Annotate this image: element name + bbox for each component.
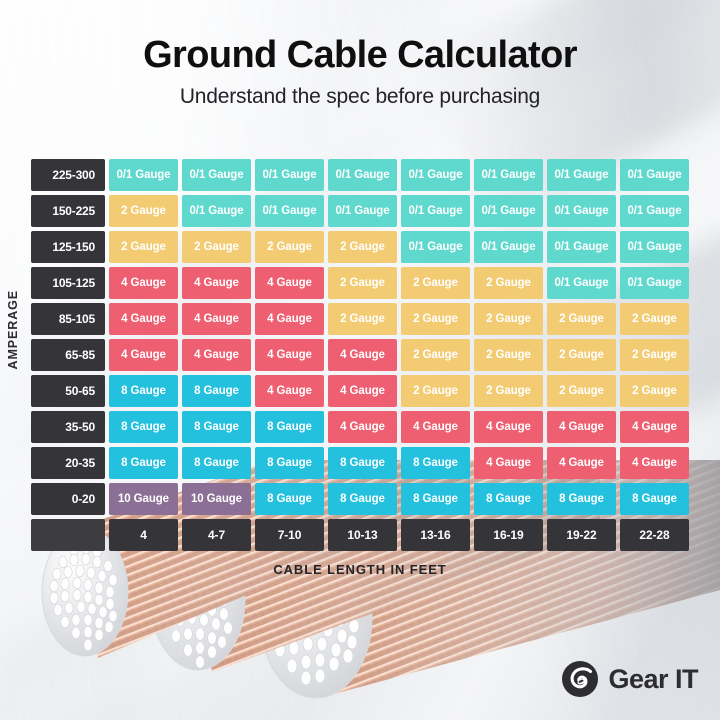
- gauge-cell: 0/1 Gauge: [401, 231, 470, 263]
- gauge-cell: 2 Gauge: [547, 303, 616, 335]
- cable-length-header: 10-13: [328, 519, 397, 551]
- amperage-row-label: 65-85: [31, 339, 105, 371]
- gauge-cell: 2 Gauge: [109, 195, 178, 227]
- gauge-cell: 0/1 Gauge: [255, 159, 324, 191]
- gauge-cell: 2 Gauge: [620, 303, 689, 335]
- gauge-cell: 4 Gauge: [255, 339, 324, 371]
- brand-logo: Gear IT: [561, 660, 698, 698]
- gauge-cell: 0/1 Gauge: [620, 195, 689, 227]
- x-axis-label: CABLE LENGTH IN FEET: [0, 562, 720, 577]
- gauge-cell: 2 Gauge: [182, 231, 251, 263]
- gauge-cell: 8 Gauge: [328, 447, 397, 479]
- gauge-cell: 0/1 Gauge: [620, 159, 689, 191]
- infographic-page: Ground Cable Calculator Understand the s…: [0, 0, 720, 720]
- gauge-cell: 2 Gauge: [401, 375, 470, 407]
- gauge-cell: 2 Gauge: [255, 231, 324, 263]
- gauge-cell: 0/1 Gauge: [620, 267, 689, 299]
- cable-length-header: 7-10: [255, 519, 324, 551]
- gauge-cell: 8 Gauge: [474, 483, 543, 515]
- cable-length-header: 4: [109, 519, 178, 551]
- gauge-cell: 2 Gauge: [474, 339, 543, 371]
- gauge-cell: 2 Gauge: [547, 375, 616, 407]
- gauge-cell: 8 Gauge: [547, 483, 616, 515]
- gauge-cell: 0/1 Gauge: [328, 195, 397, 227]
- table-row: 35-508 Gauge8 Gauge8 Gauge4 Gauge4 Gauge…: [31, 411, 689, 443]
- gauge-cell: 0/1 Gauge: [109, 159, 178, 191]
- gauge-cell: 0/1 Gauge: [547, 159, 616, 191]
- gauge-cell: 4 Gauge: [182, 267, 251, 299]
- table-row: 85-1054 Gauge4 Gauge4 Gauge2 Gauge2 Gaug…: [31, 303, 689, 335]
- amperage-row-label: 150-225: [31, 195, 105, 227]
- gauge-cell: 4 Gauge: [182, 339, 251, 371]
- gauge-cell: 8 Gauge: [182, 375, 251, 407]
- gauge-cell: 4 Gauge: [328, 339, 397, 371]
- table-row: 65-854 Gauge4 Gauge4 Gauge4 Gauge2 Gauge…: [31, 339, 689, 371]
- amperage-row-label: 225-300: [31, 159, 105, 191]
- gauge-cell: 0/1 Gauge: [474, 159, 543, 191]
- gauge-cell: 10 Gauge: [109, 483, 178, 515]
- cable-length-header: 19-22: [547, 519, 616, 551]
- gauge-cell: 2 Gauge: [401, 303, 470, 335]
- gauge-cell: 0/1 Gauge: [474, 195, 543, 227]
- table-row: 125-1502 Gauge2 Gauge2 Gauge2 Gauge0/1 G…: [31, 231, 689, 263]
- table-row: 225-3000/1 Gauge0/1 Gauge0/1 Gauge0/1 Ga…: [31, 159, 689, 191]
- gauge-cell: 0/1 Gauge: [547, 195, 616, 227]
- gauge-cell: 4 Gauge: [109, 267, 178, 299]
- gauge-cell: 10 Gauge: [182, 483, 251, 515]
- gauge-cell: 0/1 Gauge: [547, 231, 616, 263]
- amperage-row-label: 20-35: [31, 447, 105, 479]
- page-subtitle: Understand the spec before purchasing: [0, 85, 720, 109]
- gauge-cell: 2 Gauge: [401, 339, 470, 371]
- gauge-cell: 2 Gauge: [620, 339, 689, 371]
- cable-length-header: 13-16: [401, 519, 470, 551]
- amperage-row-label: 50-65: [31, 375, 105, 407]
- gauge-cell: 8 Gauge: [328, 483, 397, 515]
- gauge-cell: 2 Gauge: [547, 339, 616, 371]
- gauge-cell: 8 Gauge: [109, 375, 178, 407]
- gauge-cell: 4 Gauge: [255, 267, 324, 299]
- amperage-row-label: 105-125: [31, 267, 105, 299]
- gauge-cell: 4 Gauge: [474, 411, 543, 443]
- gauge-cell: 4 Gauge: [255, 303, 324, 335]
- header: Ground Cable Calculator Understand the s…: [0, 36, 720, 109]
- gauge-cell: 2 Gauge: [474, 375, 543, 407]
- gauge-cell: 8 Gauge: [182, 411, 251, 443]
- gauge-cell: 0/1 Gauge: [328, 159, 397, 191]
- amperage-row-label: 85-105: [31, 303, 105, 335]
- gauge-cell: 8 Gauge: [109, 447, 178, 479]
- cable-length-header: 4-7: [182, 519, 251, 551]
- amperage-row-label: 35-50: [31, 411, 105, 443]
- gauge-cell: 0/1 Gauge: [401, 195, 470, 227]
- gauge-cell: 8 Gauge: [255, 411, 324, 443]
- gauge-cell: 0/1 Gauge: [547, 267, 616, 299]
- table-row: 0-2010 Gauge10 Gauge8 Gauge8 Gauge8 Gaug…: [31, 483, 689, 515]
- gauge-cell: 8 Gauge: [255, 483, 324, 515]
- gauge-cell: 4 Gauge: [182, 303, 251, 335]
- gauge-cell: 2 Gauge: [328, 267, 397, 299]
- brand-name: Gear IT: [608, 664, 698, 695]
- gauge-cell: 2 Gauge: [474, 303, 543, 335]
- gauge-matrix-table: 225-3000/1 Gauge0/1 Gauge0/1 Gauge0/1 Ga…: [31, 159, 689, 551]
- gauge-cell: 2 Gauge: [474, 267, 543, 299]
- amperage-row-label: 125-150: [31, 231, 105, 263]
- table-row: 50-658 Gauge8 Gauge4 Gauge4 Gauge2 Gauge…: [31, 375, 689, 407]
- table-footer-row: 44-77-1010-1313-1616-1919-2222-28: [31, 519, 689, 551]
- gauge-cell: 4 Gauge: [109, 303, 178, 335]
- gauge-cell: 8 Gauge: [401, 447, 470, 479]
- gauge-cell: 8 Gauge: [182, 447, 251, 479]
- gauge-cell: 2 Gauge: [109, 231, 178, 263]
- gauge-cell: 2 Gauge: [620, 375, 689, 407]
- gauge-cell: 2 Gauge: [401, 267, 470, 299]
- gauge-cell: 8 Gauge: [255, 447, 324, 479]
- cable-length-header: 16-19: [474, 519, 543, 551]
- gauge-cell: 4 Gauge: [401, 411, 470, 443]
- table-corner-cell: [31, 519, 105, 551]
- gauge-cell: 0/1 Gauge: [182, 195, 251, 227]
- y-axis-label-text: AMPERAGE: [6, 290, 20, 369]
- table-row: 105-1254 Gauge4 Gauge4 Gauge2 Gauge2 Gau…: [31, 267, 689, 299]
- gauge-cell: 8 Gauge: [620, 483, 689, 515]
- gauge-cell: 4 Gauge: [474, 447, 543, 479]
- amperage-row-label: 0-20: [31, 483, 105, 515]
- cable-length-header: 22-28: [620, 519, 689, 551]
- gearit-swirl-icon: [561, 660, 599, 698]
- table-row: 20-358 Gauge8 Gauge8 Gauge8 Gauge8 Gauge…: [31, 447, 689, 479]
- y-axis-label: AMPERAGE: [2, 270, 24, 390]
- gauge-cell: 4 Gauge: [255, 375, 324, 407]
- gauge-cell: 4 Gauge: [547, 447, 616, 479]
- gauge-cell: 4 Gauge: [109, 339, 178, 371]
- gauge-cell: 4 Gauge: [620, 447, 689, 479]
- gauge-cell: 8 Gauge: [109, 411, 178, 443]
- gauge-cell: 2 Gauge: [328, 303, 397, 335]
- gauge-cell: 2 Gauge: [328, 231, 397, 263]
- gauge-cell: 4 Gauge: [328, 411, 397, 443]
- gauge-cell: 4 Gauge: [620, 411, 689, 443]
- gauge-cell: 0/1 Gauge: [474, 231, 543, 263]
- gauge-cell: 4 Gauge: [328, 375, 397, 407]
- table-row: 150-2252 Gauge0/1 Gauge0/1 Gauge0/1 Gaug…: [31, 195, 689, 227]
- gauge-cell: 8 Gauge: [401, 483, 470, 515]
- gauge-cell: 0/1 Gauge: [182, 159, 251, 191]
- gauge-cell: 0/1 Gauge: [255, 195, 324, 227]
- page-title: Ground Cable Calculator: [0, 36, 720, 76]
- gauge-cell: 0/1 Gauge: [620, 231, 689, 263]
- gauge-cell: 4 Gauge: [547, 411, 616, 443]
- gauge-cell: 0/1 Gauge: [401, 159, 470, 191]
